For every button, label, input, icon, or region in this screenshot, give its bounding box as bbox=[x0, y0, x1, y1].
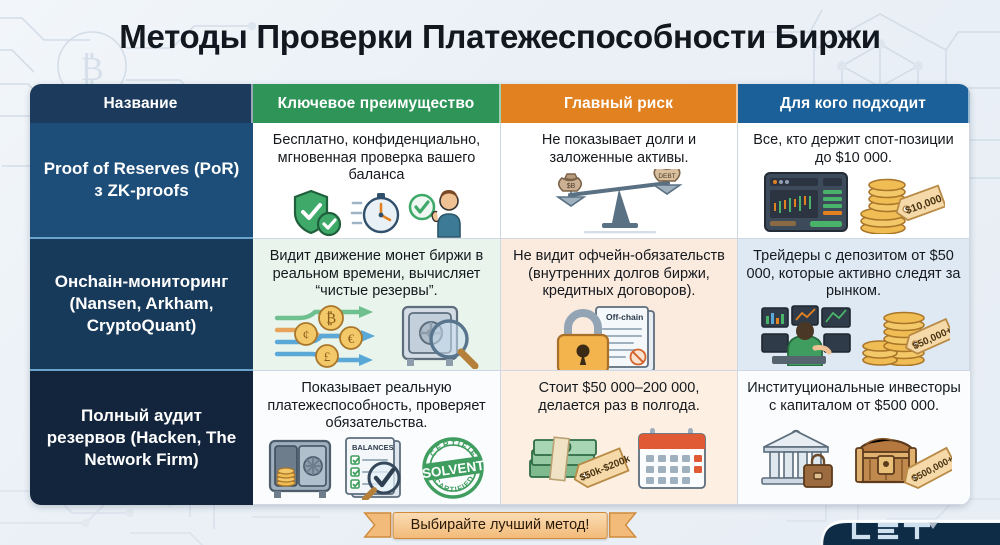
checklist-magnifier-icon: BALANCES bbox=[338, 436, 414, 500]
safe-magnifier-icon bbox=[397, 303, 481, 369]
cell-text: Видит движение монет биржи в реальном вр… bbox=[261, 248, 492, 301]
cell-risk-row3: Стоит $50 000–200 000, делается раз в по… bbox=[501, 371, 738, 505]
cell-illustration: BALANCES bbox=[261, 435, 492, 500]
treasure-chest-tag-icon: $500,000+ bbox=[852, 426, 952, 492]
money-bag-label-left: $B bbox=[567, 183, 576, 190]
cell-text: Все, кто держит спот-позиции до $10 000. bbox=[746, 132, 961, 167]
table-header-advantage: Ключевое преимущество bbox=[253, 84, 501, 123]
cell-advantage-row3: Показывает реальную платежеспособность, … bbox=[253, 371, 501, 505]
stopwatch-icon bbox=[349, 187, 403, 239]
cell-audience-row3: Институциональные инвесторы с капиталом … bbox=[738, 371, 970, 505]
bank-briefcase-icon bbox=[756, 427, 848, 491]
cell-text: Показывает реальную платежеспособность, … bbox=[261, 380, 492, 433]
footer-ribbon: Выбирайте лучший метод! bbox=[363, 510, 638, 540]
cell-audience-row2: Трейдеры с депозитом от $50 000, которые… bbox=[738, 239, 970, 371]
safe-coins-icon bbox=[266, 437, 334, 499]
brand-logo: LET bbox=[800, 489, 1000, 545]
trading-chart-screen-icon bbox=[763, 171, 849, 233]
trader-multi-monitor-icon bbox=[758, 304, 854, 366]
cell-illustration: $50,000+ bbox=[746, 303, 961, 366]
checklist-title-label: BALANCES bbox=[352, 443, 394, 452]
svg-text:₿: ₿ bbox=[80, 51, 104, 88]
document-label: Off-chain bbox=[606, 312, 643, 322]
table-header-name: Название bbox=[30, 84, 253, 123]
cell-illustration: ¢₿ €£ bbox=[261, 303, 492, 369]
padlock-icon bbox=[558, 313, 608, 371]
table-row: Proof of Reserves (PoR) з ZK-proofs bbox=[30, 123, 253, 239]
cell-illustration: $B DEBT bbox=[509, 169, 729, 237]
balance-scale-money-bags-icon: $B DEBT bbox=[544, 169, 694, 237]
money-bag-label-right: DEBT bbox=[658, 173, 675, 180]
cell-advantage-row2: Видит движение монет биржи в реальном вр… bbox=[253, 239, 501, 371]
cell-text: Трейдеры с депозитом от $50 000, которые… bbox=[746, 248, 961, 301]
cell-text: Стоит $50 000–200 000, делается раз в по… bbox=[509, 380, 729, 415]
table-header-audience: Для кого подходит bbox=[738, 84, 970, 123]
cell-illustration: $500,000+ bbox=[746, 417, 962, 500]
ribbon-left-tail-icon bbox=[363, 510, 393, 540]
svg-text:¢: ¢ bbox=[302, 327, 309, 342]
coin-flow-arrows-icon: ¢₿ €£ bbox=[273, 304, 393, 368]
coin-stack-tag-icon: $50,000+ bbox=[858, 304, 950, 366]
cell-risk-row2: Не видит офчейн-обязательств (внутренних… bbox=[501, 239, 738, 371]
cell-text: Институциональные инвесторы с капиталом … bbox=[746, 380, 962, 415]
calendar-icon bbox=[634, 426, 712, 492]
cell-text: Не видит офчейн-обязательств (внутренних… bbox=[509, 248, 729, 301]
certified-solvent-stamp-icon: CERTIFIED CARTIFIED SOLVENT bbox=[418, 436, 488, 500]
comparison-table: Название Ключевое преимущество Главный р… bbox=[30, 84, 970, 505]
ribbon-right-tail-icon bbox=[607, 510, 637, 540]
page-title: Методы Проверки Платежеспособности Биржи bbox=[0, 18, 1000, 56]
svg-text:₿: ₿ bbox=[325, 311, 335, 327]
person-approve-icon bbox=[407, 187, 465, 239]
cell-text: Не показывает долги и заложенные активы. bbox=[509, 132, 729, 167]
footer-ribbon-label: Выбирайте лучший метод! bbox=[393, 512, 608, 539]
table-header-risk: Главный риск bbox=[501, 84, 738, 123]
cell-illustration bbox=[261, 187, 492, 239]
padlock-offchain-document-icon: Off-chain bbox=[554, 303, 684, 371]
cell-advantage-row1: Бесплатно, конфиденциально, мгновенная п… bbox=[253, 123, 501, 239]
cell-risk-row1: Не показывает долги и заложенные активы.… bbox=[501, 123, 738, 239]
table-row: Полный аудит резервов (Hacken, The Netwo… bbox=[30, 371, 253, 505]
cell-audience-row1: Все, кто держит спот-позиции до $10 000. bbox=[738, 123, 970, 239]
cell-text: Бесплатно, конфиденциально, мгновенная п… bbox=[261, 132, 492, 185]
shield-check-icon bbox=[289, 187, 345, 239]
svg-text:€: € bbox=[347, 331, 354, 346]
cash-stack-tag-icon: $50k-$200k bbox=[526, 426, 630, 492]
table-row: Онсhaiн-мониторинг (Nansen, Arkham, Cryp… bbox=[30, 239, 253, 371]
cell-illustration: Off-chain bbox=[509, 303, 729, 371]
cell-illustration: $50k-$200k bbox=[509, 417, 729, 500]
coin-stack-tag-icon: $10,000 bbox=[853, 170, 945, 234]
svg-text:£: £ bbox=[323, 349, 330, 364]
cell-illustration: $10,000 bbox=[746, 169, 961, 234]
